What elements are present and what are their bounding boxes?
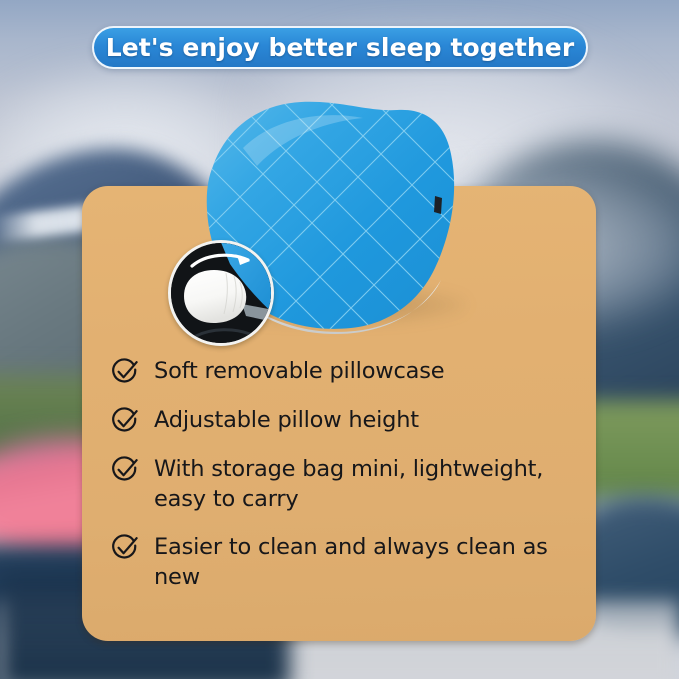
check-circle-icon <box>110 406 140 436</box>
list-item: Easier to clean and always clean as new <box>110 532 590 592</box>
inset-detail-circle <box>168 240 274 346</box>
inset-inner-pillow <box>184 270 246 323</box>
feature-label: With storage bag mini, lightweight, easy… <box>154 454 584 514</box>
headline-banner: Let's enjoy better sleep together <box>92 26 588 69</box>
feature-label: Easier to clean and always clean as new <box>154 532 584 592</box>
feature-label: Soft removable pillowcase <box>154 356 444 386</box>
check-circle-icon <box>110 455 140 485</box>
list-item: With storage bag mini, lightweight, easy… <box>110 454 590 514</box>
product-infographic: Let's enjoy better sleep together <box>0 0 679 679</box>
check-circle-icon <box>110 533 140 563</box>
list-item: Soft removable pillowcase <box>110 356 590 387</box>
pillow-valve <box>434 196 442 214</box>
list-item: Adjustable pillow height <box>110 405 590 436</box>
feature-label: Adjustable pillow height <box>154 405 419 435</box>
headline-text: Let's enjoy better sleep together <box>106 33 575 62</box>
feature-list: Soft removable pillowcase Adjustable pil… <box>110 356 590 592</box>
check-circle-icon <box>110 357 140 387</box>
inset-detail-illustration <box>168 240 274 346</box>
